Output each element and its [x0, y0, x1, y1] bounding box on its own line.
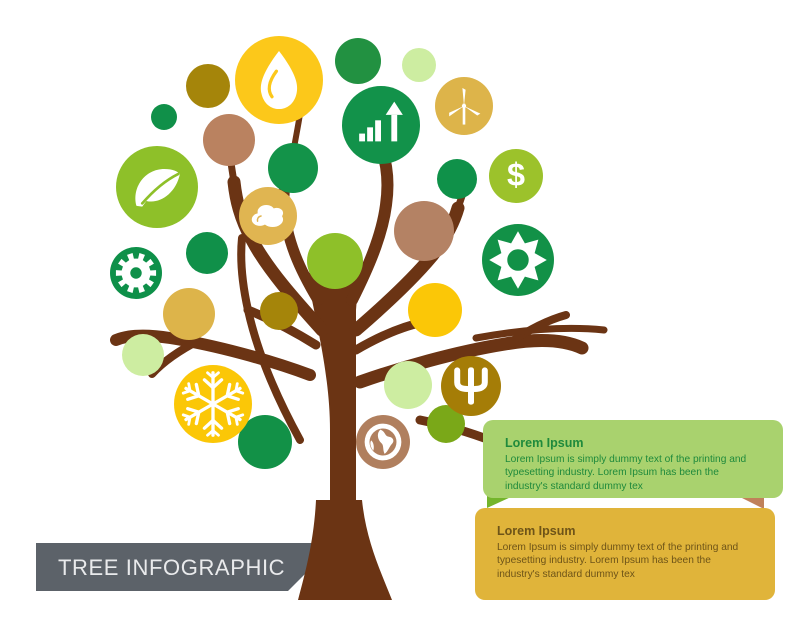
globe-icon[interactable] [356, 415, 410, 469]
sun-icon-glyph [489, 231, 547, 289]
dot-lightgreen-left [122, 334, 164, 376]
water-drop-icon[interactable] [235, 36, 323, 124]
svg-text:$: $ [507, 157, 525, 193]
dot-green-dark-top [335, 38, 381, 84]
callout-gold-title: Lorem Ipsum [497, 524, 753, 540]
dot-green-small-left [151, 104, 177, 130]
callout-green-body: Lorem Ipsum is simply dummy text of the … [505, 453, 761, 493]
dot-green-small-left2 [186, 232, 228, 274]
cactus-icon[interactable] [441, 356, 501, 416]
dot-olive-mid [307, 233, 363, 289]
dollar-sign-icon-glyph: $ [507, 157, 525, 193]
leaf-icon[interactable] [116, 146, 198, 228]
wind-turbine-icon[interactable] [435, 77, 493, 135]
snowflake-icon[interactable] [174, 365, 252, 443]
callout-gold[interactable]: Lorem Ipsum Lorem Ipsum is simply dummy … [475, 508, 775, 600]
callout-green[interactable]: Lorem Ipsum Lorem Ipsum is simply dummy … [483, 420, 783, 498]
dot-lightgreen-top [402, 48, 436, 82]
dollar-sign-icon[interactable]: $ [489, 149, 543, 203]
dot-darkgold-mid [260, 292, 298, 330]
sun-icon[interactable] [482, 224, 554, 296]
infographic-canvas: $ Lorem Ipsum Lorem Ipsum is simply dumm… [0, 0, 800, 623]
dot-yellow-right [408, 283, 462, 337]
dot-green-mid [268, 143, 318, 193]
dot-gold-left [163, 288, 215, 340]
dot-green-small-right [437, 159, 477, 199]
callout-gold-body: Lorem Ipsum is simply dummy text of the … [497, 541, 753, 581]
dot-lightgreen-right [384, 361, 432, 409]
dot-brown-mid-right [394, 201, 454, 261]
gear-icon[interactable] [110, 247, 162, 299]
page-title: TREE INFOGRAPHIC [58, 555, 285, 581]
growth-chart-icon[interactable] [342, 86, 420, 164]
cloud-icon[interactable] [239, 187, 297, 245]
globe-icon-glyph [365, 424, 402, 461]
dot-brown-upper-left [203, 114, 255, 166]
dot-olive-upper-left [186, 64, 230, 108]
callout-green-title: Lorem Ipsum [505, 436, 761, 452]
